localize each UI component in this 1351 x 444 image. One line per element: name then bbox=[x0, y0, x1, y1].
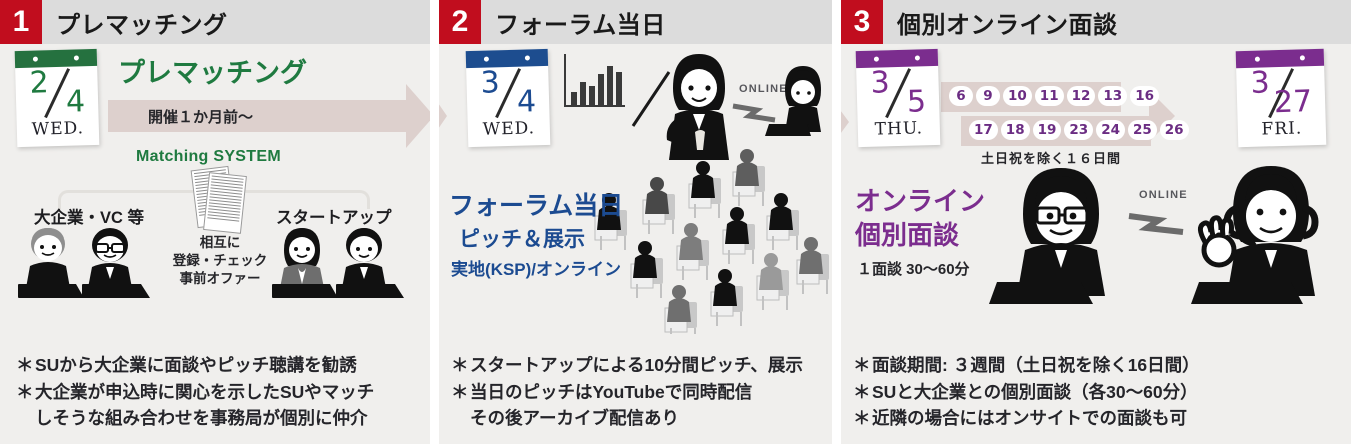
startup-people-figures bbox=[272, 226, 422, 302]
calendar-mar-4: 3 4 WED. bbox=[466, 49, 551, 147]
svg-text:ONLINE: ONLINE bbox=[1139, 189, 1188, 201]
bullet-text: 近隣の場合にはオンサイトでの面談も可 bbox=[872, 405, 1187, 432]
bullet-text: 面談期間: ３週間（土日祝を除く16日間） bbox=[872, 352, 1200, 379]
bullet-text: SUと大企業との個別面談（各30〜60分） bbox=[872, 379, 1198, 406]
calendar-day: 27 bbox=[1274, 87, 1313, 118]
panel-3-header: 3 個別オンライン面談 bbox=[841, 0, 1351, 44]
bullet-mark: ＊ bbox=[16, 379, 35, 406]
date-pill: 23 bbox=[1064, 120, 1093, 140]
bullet-text: 当日のピッチはYouTubeで同時配信 bbox=[470, 379, 752, 406]
enterprise-people-figures bbox=[18, 226, 168, 302]
calendar-feb-4: 2 4 WED. bbox=[15, 49, 100, 147]
calendar-date: 3 5 bbox=[856, 66, 939, 120]
panel-3-headline-line-2: 個別面談 bbox=[855, 220, 959, 251]
panel-2-headline: フォーラム当日 bbox=[449, 192, 623, 222]
date-pill: 13 bbox=[1098, 86, 1127, 106]
calendar-date: 3 4 bbox=[466, 66, 549, 120]
calendar-dow: WED. bbox=[468, 118, 551, 147]
left-group-label: 大企業・VC 等 bbox=[34, 204, 144, 228]
panel-1-header: 1 プレマッチング bbox=[0, 0, 430, 44]
matching-system-label: Matching SYSTEM bbox=[136, 148, 281, 167]
date-pill: 6 bbox=[949, 86, 973, 106]
calendar-month: 3 bbox=[480, 68, 500, 99]
bullet-item: ＊ SUと大企業との個別面談（各30〜60分） bbox=[853, 379, 1343, 406]
calendar-day: 5 bbox=[907, 87, 927, 118]
panel-1-body: 2 4 WED. プレマッチング 開催１か月前〜 Matching SYSTEM bbox=[0, 44, 430, 444]
presenter-scene: ONLINE bbox=[561, 48, 826, 163]
calendar-date: 2 4 bbox=[15, 66, 98, 120]
bullet-item: ＊ 大企業が申込時に関心を示したSUやマッチ bbox=[16, 379, 422, 406]
calendar-day: 4 bbox=[66, 87, 86, 118]
panel-1-title: プレマッチング bbox=[42, 0, 430, 44]
panel-1-headline: プレマッチング bbox=[118, 58, 307, 90]
bullet-mark: ＊ bbox=[451, 352, 470, 379]
date-pill: 18 bbox=[1001, 120, 1030, 140]
arrow-head-incoming-3 bbox=[841, 92, 849, 152]
calendar-month: 2 bbox=[29, 68, 49, 99]
date-pill: 11 bbox=[1035, 86, 1064, 106]
bullet-item: ＊ 近隣の場合にはオンサイトでの面談も可 bbox=[853, 405, 1343, 432]
date-pill: 12 bbox=[1067, 86, 1096, 106]
panel-3-headline-line-1: オンライン bbox=[855, 186, 985, 217]
panel-pre-matching: 1 プレマッチング 2 4 WED. プレマッチング bbox=[0, 0, 430, 444]
calendar-day: 4 bbox=[517, 87, 537, 118]
date-pill: 10 bbox=[1003, 86, 1032, 106]
panel-2-header: 2 フォーラム当日 bbox=[439, 0, 832, 44]
date-pill-row-1: 6 9 10 11 12 13 16 bbox=[949, 86, 1159, 106]
panel-1-number: 1 bbox=[0, 0, 42, 44]
svg-text:ONLINE: ONLINE bbox=[739, 83, 788, 95]
date-pill-row-2: 17 18 19 23 24 25 26 bbox=[969, 120, 1189, 140]
panel-2-subline-1: ピッチ＆展示 bbox=[459, 228, 585, 253]
bullet-item: ＊ 当日のピッチはYouTubeで同時配信 bbox=[451, 379, 824, 406]
panel-2-title: フォーラム当日 bbox=[481, 0, 832, 44]
bullet-mark: ＊ bbox=[451, 379, 470, 406]
right-group-label: スタートアップ bbox=[276, 204, 392, 228]
calendar-dow: THU. bbox=[858, 118, 941, 147]
audience-seating bbox=[591, 144, 832, 334]
date-pills-caption: 土日祝を除く１６日間 bbox=[981, 148, 1121, 167]
calendar-month: 3 bbox=[1250, 68, 1270, 99]
arrow-label-1: 開催１か月前〜 bbox=[148, 106, 253, 127]
registration-sheet-front bbox=[203, 172, 247, 234]
bullet-item: ＊ スタートアップによる10分間ピッチ、展示 bbox=[451, 352, 824, 379]
mutual-note-line-2: 登録・チェック bbox=[170, 252, 270, 270]
panel-individual-online-meeting: 3 個別オンライン面談 3 5 THU. bbox=[841, 0, 1351, 444]
calendar-month: 3 bbox=[870, 68, 890, 99]
date-pill: 19 bbox=[1033, 120, 1062, 140]
calendar-dow: WED. bbox=[17, 118, 100, 147]
date-pill: 25 bbox=[1128, 120, 1157, 140]
panel-3-bullets: ＊ 面談期間: ３週間（土日祝を除く16日間） ＊ SUと大企業との個別面談（各… bbox=[853, 352, 1343, 432]
arrow-head-incoming-2 bbox=[439, 84, 447, 148]
panel-2-body: 3 4 WED. bbox=[439, 44, 832, 444]
bullet-text-continued: その後アーカイブ配信あり bbox=[451, 405, 824, 432]
calendar-dow: FRI. bbox=[1238, 118, 1327, 147]
date-pill: 16 bbox=[1130, 86, 1159, 106]
mutual-note-line-3: 事前オファー bbox=[170, 270, 270, 288]
panel-3-number: 3 bbox=[841, 0, 883, 44]
panel-3-subnote: １面談 30〜60分 bbox=[857, 258, 970, 279]
panel-2-bullets: ＊ スタートアップによる10分間ピッチ、展示 ＊ 当日のピッチはYouTubeで… bbox=[451, 352, 824, 432]
date-pill: 9 bbox=[976, 86, 1000, 106]
bullet-text: スタートアップによる10分間ピッチ、展示 bbox=[470, 352, 803, 379]
bullet-text: SUから大企業に面談やピッチ聴講を勧誘 bbox=[35, 352, 357, 379]
arrow-head-1 bbox=[406, 84, 430, 148]
process-infographic: 1 プレマッチング 2 4 WED. プレマッチング bbox=[0, 0, 1351, 444]
bullet-item: ＊ 面談期間: ３週間（土日祝を除く16日間） bbox=[853, 352, 1343, 379]
date-pill: 17 bbox=[969, 120, 998, 140]
calendar-mar-27: 3 27 FRI. bbox=[1236, 49, 1327, 147]
panel-2-number: 2 bbox=[439, 0, 481, 44]
date-pill: 24 bbox=[1096, 120, 1125, 140]
bullet-mark: ＊ bbox=[853, 352, 872, 379]
bullet-mark: ＊ bbox=[16, 352, 35, 379]
bullet-item: ＊ SUから大企業に面談やピッチ聴講を勧誘 bbox=[16, 352, 422, 379]
online-meeting-figures: ONLINE bbox=[987, 162, 1345, 312]
calendar-date: 3 27 bbox=[1236, 66, 1325, 120]
panel-3-title: 個別オンライン面談 bbox=[883, 0, 1351, 44]
bullet-mark: ＊ bbox=[853, 405, 872, 432]
bullet-text-continued: しそうな組み合わせを事務局が個別に仲介 bbox=[16, 405, 422, 432]
panel-forum-day: 2 フォーラム当日 3 4 WED. bbox=[439, 0, 832, 444]
bullet-text: 大企業が申込時に関心を示したSUやマッチ bbox=[35, 379, 374, 406]
date-pill: 26 bbox=[1160, 120, 1189, 140]
bullet-mark: ＊ bbox=[853, 379, 872, 406]
panel-2-subline-2: 実地(KSP)/オンライン bbox=[451, 260, 621, 280]
calendar-mar-5: 3 5 THU. bbox=[856, 49, 941, 147]
panel-1-bullets: ＊ SUから大企業に面談やピッチ聴講を勧誘 ＊ 大企業が申込時に関心を示したSU… bbox=[16, 352, 422, 432]
mutual-note-line-1: 相互に bbox=[180, 234, 260, 252]
panel-3-body: 3 5 THU. 3 27 FRI. 6 bbox=[841, 44, 1351, 444]
